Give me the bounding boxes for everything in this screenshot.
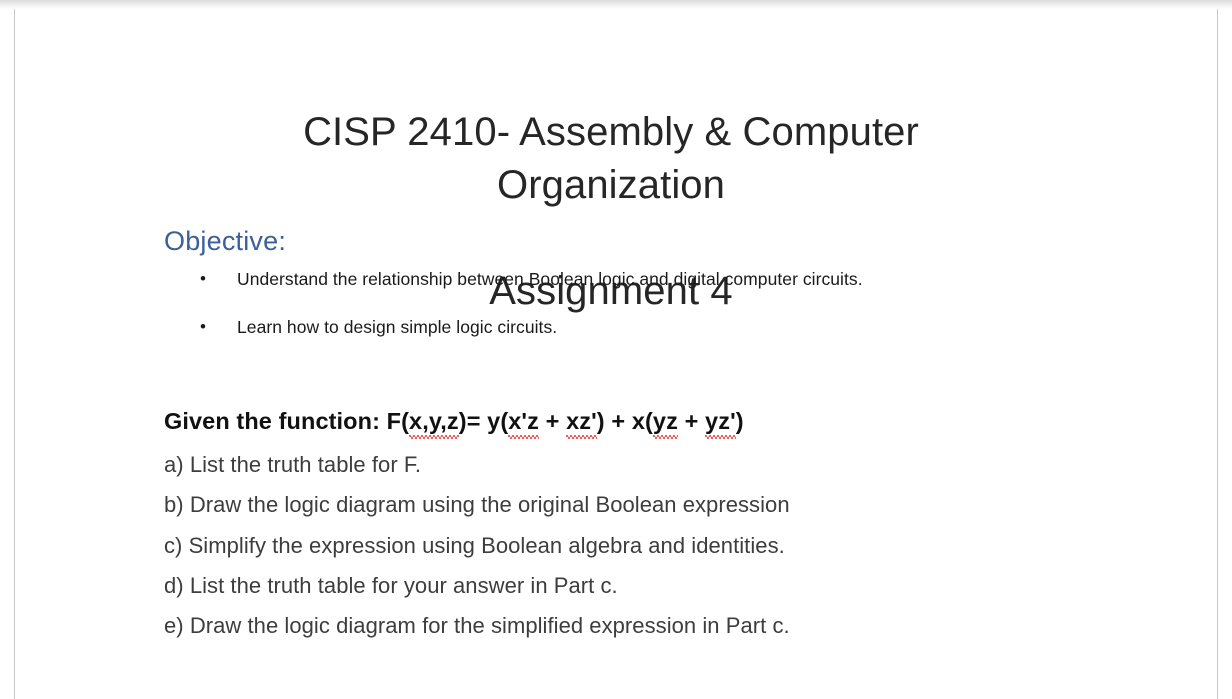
function-symbol: F	[387, 408, 401, 434]
misspelled-term-xznot: xz'	[566, 408, 597, 435]
given-function-lead: Given the function:	[164, 408, 387, 434]
task-list: a) List the truth table for F. b) Draw t…	[164, 450, 1164, 651]
term-y: y	[487, 408, 500, 434]
objective-heading: Objective:	[164, 226, 286, 257]
misspelled-term-yz: yz	[653, 408, 678, 435]
plus-sign-2: +	[605, 408, 632, 434]
list-item: • Understand the relationship between Bo…	[164, 265, 1124, 313]
bullet-dot-icon: •	[198, 265, 208, 293]
slide-canvas: CISP 2410- Assembly & Computer Organizat…	[14, 9, 1218, 699]
paren-close: )	[459, 408, 467, 434]
group1-paren-close: )	[597, 408, 605, 434]
equals-sign: =	[467, 408, 487, 434]
misspelled-term-yznot: yz'	[705, 408, 736, 435]
group1-paren-open: (	[500, 408, 508, 434]
list-item-label: Learn how to design simple logic circuit…	[237, 317, 557, 337]
objective-bullet-list: • Understand the relationship between Bo…	[164, 265, 1124, 361]
misspelled-term-xnotz: x'z	[508, 408, 539, 435]
plus-sign-3: +	[678, 408, 705, 434]
group2-paren-open: (	[645, 408, 653, 434]
task-item-a: a) List the truth table for F.	[164, 450, 1164, 490]
task-item-e: e) Draw the logic diagram for the simpli…	[164, 611, 1164, 651]
page-title-line-1: CISP 2410- Assembly & Computer Organizat…	[211, 106, 1011, 212]
task-item-c: c) Simplify the expression using Boolean…	[164, 531, 1164, 571]
plus-sign-1: +	[539, 408, 566, 434]
task-item-d: d) List the truth table for your answer …	[164, 571, 1164, 611]
task-item-b: b) Draw the logic diagram using the orig…	[164, 490, 1164, 530]
list-item-label: Understand the relationship between Bool…	[237, 269, 863, 289]
bullet-dot-icon: •	[198, 313, 208, 341]
slide-page: CISP 2410- Assembly & Computer Organizat…	[0, 0, 1232, 699]
paren-open: (	[401, 408, 409, 434]
term-x: x	[632, 408, 645, 434]
misspelled-vars: x,y,z	[409, 408, 459, 435]
group2-paren-close: )	[736, 408, 744, 434]
list-item: • Learn how to design simple logic circu…	[164, 313, 1124, 361]
top-edge-shadow	[0, 0, 1232, 9]
given-function-line: Given the function: F(x,y,z)= y(x'z + xz…	[164, 408, 744, 435]
